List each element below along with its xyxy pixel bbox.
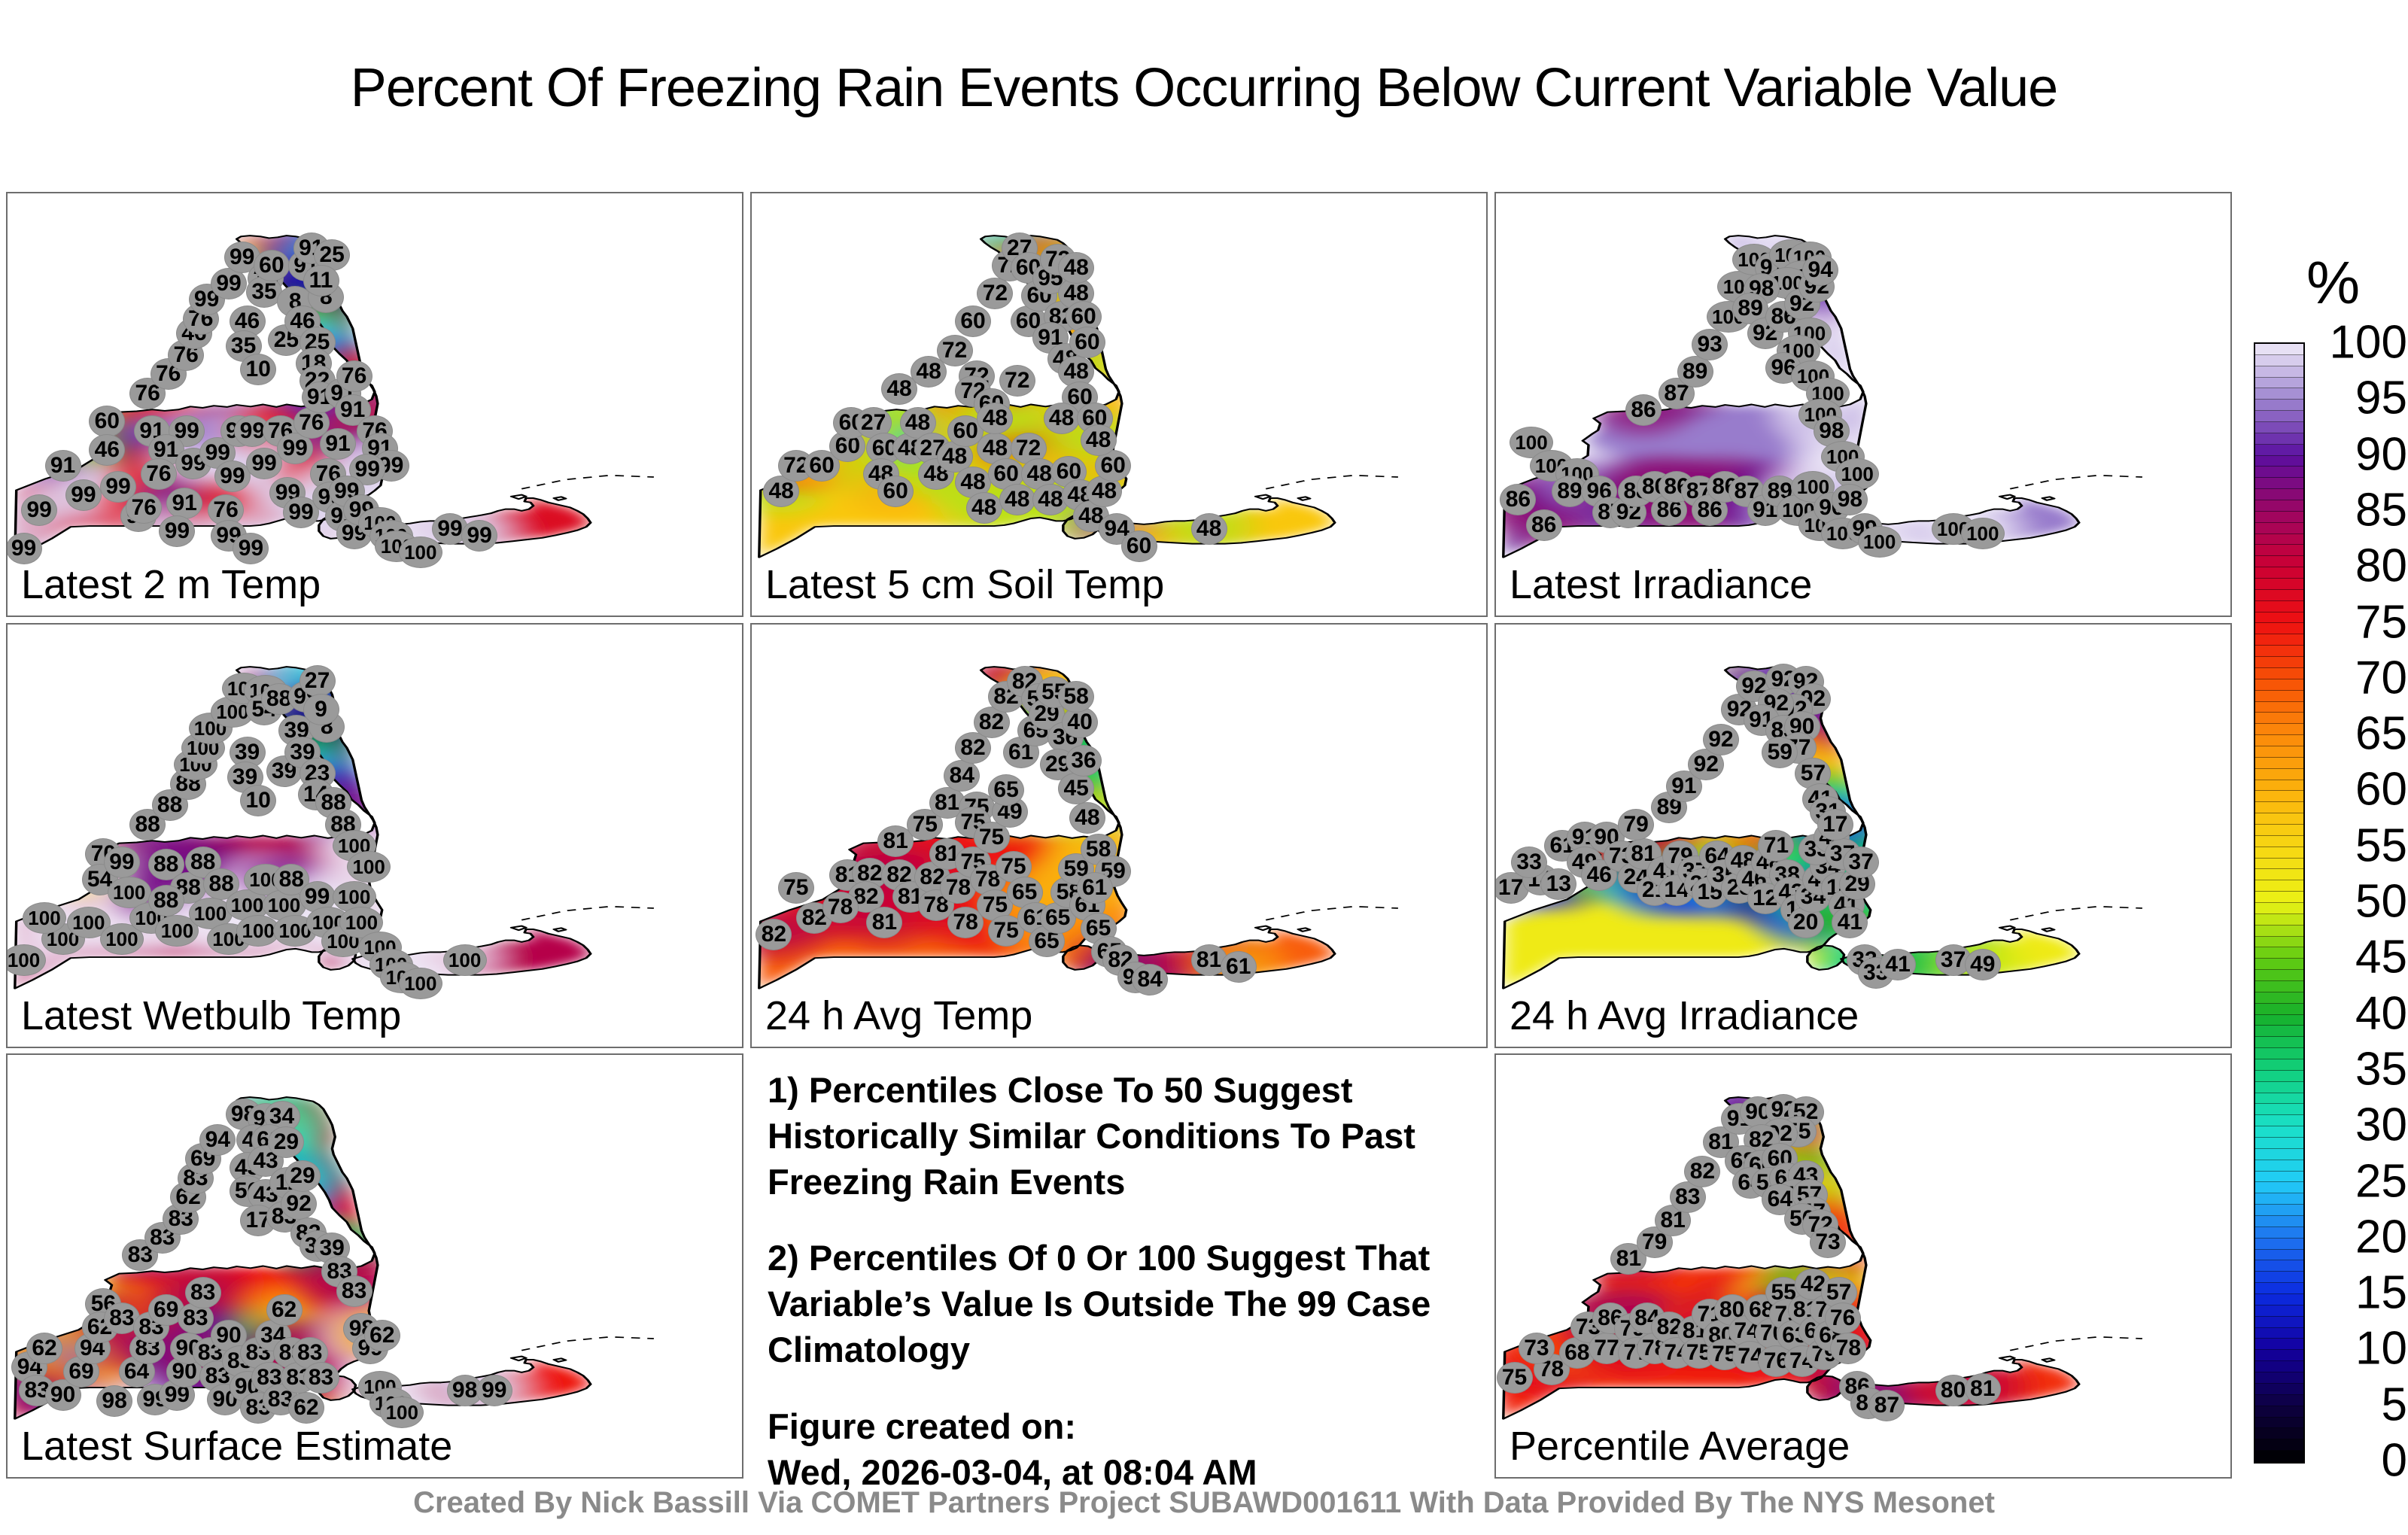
station-value-label: 99 [283, 437, 308, 460]
station-value-label: 48 [886, 378, 911, 400]
colorbar-segment [2255, 1339, 2303, 1350]
figure-created-label: Figure created on: [768, 1406, 1076, 1446]
station-value-label: 48 [769, 480, 794, 503]
colorbar-segment [2255, 724, 2303, 735]
colorbar-tick: 65 [2355, 707, 2407, 761]
station-value-label: 83 [297, 1342, 322, 1364]
station-value-label: 48 [983, 407, 1008, 430]
colorbar-tick: 25 [2355, 1154, 2407, 1208]
station-value-label: 60 [993, 463, 1018, 485]
station-value-label: 89 [1738, 297, 1762, 320]
station-value-label: 60 [1101, 454, 1126, 477]
colorbar-segment [2255, 1384, 2303, 1395]
station-value-label: 37 [1941, 949, 1966, 971]
station-marker[interactable]: 76 [126, 492, 162, 524]
map-panel-percentile-average[interactable]: 7578736873778679778478827481757180758074… [1494, 1053, 2232, 1479]
station-value-label: 48 [1075, 807, 1099, 829]
station-marker[interactable]: 76 [141, 458, 177, 490]
station-value-label: 48 [960, 471, 985, 494]
station-marker[interactable]: 48 [1081, 424, 1117, 456]
station-value-label: 78 [953, 911, 978, 934]
colorbar-segment [2255, 1026, 2303, 1037]
station-marker[interactable]: 75 [778, 872, 814, 904]
station-marker[interactable]: 100 [6, 944, 46, 976]
station-value-label: 100 [345, 913, 378, 932]
colorbar-segment [2255, 892, 2303, 903]
colorbar-tick: 100 [2330, 316, 2407, 369]
station-value-label: 88 [154, 889, 178, 912]
station-marker[interactable]: 81 [1965, 1373, 2001, 1405]
colorbar-segment [2255, 970, 2303, 981]
station-value-label: 48 [942, 445, 967, 468]
colorbar: % 10095908580757065605550454035302520151… [2254, 342, 2408, 1471]
station-value-label: 86 [1506, 488, 1531, 511]
station-value-label: 99 [11, 537, 36, 560]
station-value-label: 78 [1836, 1337, 1861, 1360]
station-value-label: 37 [1848, 851, 1873, 874]
station-marker[interactable]: 86 [1526, 509, 1562, 541]
colorbar-segment [2255, 880, 2303, 892]
station-marker[interactable]: 62 [266, 1294, 303, 1326]
colorbar-segment [2255, 1428, 2303, 1439]
station-marker[interactable]: 100 [399, 968, 442, 999]
station-value-label: 41 [1885, 953, 1910, 976]
colorbar-segment [2255, 937, 2303, 948]
station-marker[interactable]: 93 [1692, 329, 1728, 360]
station-value-label: 62 [293, 1397, 318, 1419]
station-value-label: 68 [1564, 1342, 1589, 1364]
colorbar-segment [2255, 1193, 2303, 1205]
station-value-label: 81 [872, 911, 897, 934]
station-marker[interactable]: 48 [977, 403, 1013, 434]
station-value-label: 100 [404, 543, 436, 562]
station-marker[interactable]: 99 [6, 533, 42, 564]
station-value-label: 78 [828, 896, 853, 919]
colorbar-segment [2255, 1350, 2303, 1361]
colorbar-segment [2255, 825, 2303, 836]
station-marker[interactable]: 29 [268, 1126, 304, 1158]
station-value-label: 45 [1064, 777, 1089, 800]
colorbar-segment [2255, 802, 2303, 813]
station-value-label: 100 [404, 974, 436, 993]
station-value-label: 98 [452, 1379, 477, 1402]
colorbar-tick: 60 [2355, 763, 2407, 816]
map-surface [752, 193, 1486, 616]
station-value-label: 79 [1624, 813, 1649, 836]
station-marker[interactable]: 99 [65, 479, 102, 511]
station-marker[interactable]: 99 [104, 847, 140, 878]
station-value-label: 65 [993, 779, 1018, 801]
map-panel-latest-2m-temp[interactable]: 9199996046999991999176999976919999919976… [6, 192, 743, 617]
station-value-label: 76 [1830, 1307, 1855, 1330]
colorbar-segment [2255, 534, 2303, 546]
station-value-label: 48 [1086, 429, 1111, 451]
station-value-label: 48 [1005, 488, 1029, 511]
colorbar-segment [2255, 1059, 2303, 1071]
station-marker[interactable]: 100 [1961, 518, 2005, 549]
colorbar-tick: 5 [2382, 1378, 2407, 1431]
station-marker[interactable]: 41 [1832, 907, 1868, 938]
colorbar-segment [2255, 780, 2303, 792]
station-value-label: 83 [190, 1281, 215, 1304]
station-marker[interactable]: 100 [443, 944, 487, 976]
colorbar-segment [2255, 1361, 2303, 1372]
station-value-label: 60 [95, 410, 120, 433]
station-marker[interactable]: 92 [281, 1188, 317, 1220]
station-marker[interactable]: 62 [26, 1333, 62, 1364]
station-marker[interactable]: 17 [1817, 809, 1853, 840]
station-marker[interactable]: 79 [1618, 809, 1654, 840]
station-marker[interactable]: 92 [1703, 724, 1739, 755]
station-marker[interactable]: 10 [240, 785, 276, 816]
map-panel-latest-wetbulb-temp[interactable]: 1001001007054991001001001008888881008888… [6, 623, 743, 1048]
station-value-label: 76 [132, 497, 157, 519]
colorbar-segment [2255, 366, 2303, 378]
station-marker[interactable]: 48 [1044, 403, 1080, 434]
station-value-label: 99 [109, 851, 134, 874]
notes-block: 1) Percentiles Close To 50 Suggest Histo… [768, 1067, 1467, 1495]
station-value-label: 61 [1082, 877, 1107, 899]
station-value-label: 99 [26, 499, 51, 521]
colorbar-segment [2255, 512, 2303, 523]
station-marker[interactable]: 48 [1069, 802, 1105, 834]
station-value-label: 75 [783, 877, 808, 899]
station-value-label: 72 [942, 339, 967, 362]
station-value-label: 9 [315, 698, 327, 721]
station-value-label: 48 [1092, 480, 1117, 503]
station-marker[interactable]: 84 [944, 760, 980, 792]
station-value-label: 76 [146, 463, 171, 485]
station-value-label: 91 [50, 454, 75, 477]
colorbar-segment [2255, 1216, 2303, 1227]
station-marker[interactable]: 60 [1121, 530, 1157, 562]
station-value-label: 83 [1675, 1186, 1700, 1208]
station-value-label: 41 [1838, 911, 1862, 934]
colorbar-segment [2255, 445, 2303, 456]
station-marker[interactable]: 37 [1843, 847, 1879, 878]
station-value-label: 82 [979, 711, 1004, 734]
station-value-label: 71 [1764, 834, 1789, 857]
station-value-label: 100 [268, 895, 300, 915]
station-value-label: 86 [1631, 399, 1655, 421]
station-marker[interactable]: 60 [89, 406, 125, 437]
colorbar-segment [2255, 1306, 2303, 1317]
station-value-label: 99 [467, 524, 492, 547]
station-marker[interactable]: 100 [347, 851, 391, 883]
colorbar-segment [2255, 1126, 2303, 1138]
station-marker[interactable]: 36 [1066, 745, 1102, 777]
station-marker[interactable]: 73 [1810, 1226, 1846, 1258]
station-value-label: 100 [1863, 532, 1896, 552]
colorbar-segment [2255, 758, 2303, 769]
station-marker[interactable]: 91 [166, 488, 202, 519]
station-value-label: 75 [979, 826, 1004, 849]
station-marker[interactable]: 99 [476, 1375, 512, 1406]
colorbar-segment [2255, 947, 2303, 959]
station-value-label: 91 [172, 492, 197, 515]
station-marker[interactable]: 83 [336, 1275, 372, 1307]
colorbar-segment [2255, 1328, 2303, 1339]
station-marker[interactable]: 99 [233, 533, 269, 564]
colorbar-segment [2255, 1272, 2303, 1283]
station-value-label: 93 [1698, 333, 1722, 356]
colorbar-tick: 45 [2355, 931, 2407, 984]
station-marker[interactable]: 99 [214, 460, 251, 492]
station-value-label: 10 [246, 358, 271, 381]
station-value-label: 99 [165, 520, 190, 543]
station-value-label: 100 [194, 904, 227, 923]
station-value-label: 100 [8, 950, 40, 970]
colorbar-segment [2255, 1205, 2303, 1216]
station-value-label: 65 [1012, 881, 1037, 904]
station-marker[interactable]: 82 [756, 919, 792, 950]
station-marker[interactable]: 99 [461, 520, 497, 552]
colorbar-tick: 15 [2355, 1266, 2407, 1320]
colorbar-tick: 80 [2355, 540, 2407, 593]
station-value-label: 49 [1970, 953, 1995, 976]
station-marker[interactable]: 72 [999, 365, 1035, 397]
station-value-label: 60 [883, 480, 908, 503]
station-marker[interactable]: 98 [1832, 484, 1868, 515]
station-value-label: 20 [1793, 911, 1818, 934]
station-value-label: 48 [1049, 407, 1074, 430]
station-value-label: 60 [1126, 535, 1151, 558]
station-value-label: 99 [220, 465, 245, 488]
colorbar-segment [2255, 1406, 2303, 1418]
station-marker[interactable]: 78 [1830, 1333, 1866, 1364]
station-marker[interactable]: 48 [1191, 513, 1227, 545]
station-marker[interactable]: 60 [254, 250, 290, 281]
station-marker[interactable]: 83 [303, 1362, 339, 1394]
station-marker[interactable]: 60 [877, 476, 914, 507]
credit-line: Created By Nick Bassill Via COMET Partne… [0, 1486, 2408, 1520]
colorbar-segment [2255, 601, 2303, 612]
station-marker[interactable]: 78 [822, 892, 859, 923]
station-value-label: 100 [1966, 524, 1999, 543]
station-value-label: 48 [1027, 463, 1052, 485]
station-marker[interactable]: 76 [336, 360, 372, 392]
station-value-label: 75 [1502, 1366, 1527, 1389]
station-value-label: 73 [1524, 1337, 1549, 1360]
station-value-label: 60 [259, 254, 284, 277]
station-value-label: 98 [1819, 420, 1844, 442]
station-marker[interactable]: 59 [1762, 737, 1798, 768]
station-value-label: 99 [240, 420, 265, 442]
station-value-label: 81 [883, 830, 908, 853]
station-marker[interactable]: 88 [148, 885, 184, 916]
colorbar-tick: 0 [2382, 1434, 2407, 1488]
station-marker[interactable]: 29 [284, 1160, 321, 1192]
station-marker[interactable]: 61 [1077, 872, 1113, 904]
colorbar-segment [2255, 914, 2303, 926]
station-value-label: 40 [1067, 711, 1092, 734]
station-marker[interactable]: 62 [364, 1320, 400, 1351]
station-marker[interactable]: 10 [240, 354, 276, 385]
station-marker[interactable]: 76 [1825, 1302, 1861, 1334]
colorbar-segment [2255, 992, 2303, 1004]
station-marker[interactable]: 61 [1221, 951, 1257, 983]
station-marker[interactable]: 99 [21, 494, 57, 526]
station-marker[interactable]: 72 [977, 278, 1013, 309]
map-panel-24h-avg-irradiance[interactable]: 1714133361919049467324812141147937231564… [1494, 623, 2232, 1048]
station-marker[interactable]: 98 [96, 1385, 132, 1417]
station-marker[interactable]: 33 [1511, 847, 1547, 878]
colorbar-segment [2255, 926, 2303, 937]
colorbar-segment [2255, 679, 2303, 691]
colorbar-segment [2255, 1395, 2303, 1406]
station-value-label: 86 [1531, 514, 1556, 536]
station-marker[interactable]: 71 [1758, 830, 1794, 862]
station-value-label: 10 [246, 789, 271, 812]
station-value-label: 100 [352, 857, 385, 877]
station-value-label: 65 [1045, 907, 1070, 929]
station-value-label: 89 [1683, 360, 1707, 383]
colorbar-segment [2255, 489, 2303, 500]
station-marker[interactable]: 89 [1677, 356, 1713, 388]
colorbar-segment [2255, 981, 2303, 992]
colorbar-segment [2255, 1071, 2303, 1082]
colorbar-segment [2255, 1239, 2303, 1250]
colorbar-segment [2255, 869, 2303, 880]
station-value-label: 69 [154, 1299, 178, 1321]
station-marker[interactable]: 91 [45, 450, 81, 482]
colorbar-segment [2255, 545, 2303, 556]
colorbar-segment [2255, 433, 2303, 445]
station-marker[interactable]: 75 [1497, 1362, 1533, 1394]
station-value-label: 33 [1516, 851, 1541, 874]
colorbar-tick-labels: 1009590858075706560555045403530252015105… [2309, 342, 2408, 1464]
colorbar-segment [2255, 702, 2303, 713]
station-value-label: 84 [950, 764, 974, 787]
colorbar-segment [2255, 1317, 2303, 1328]
colorbar-segment [2255, 1149, 2303, 1160]
colorbar-tick: 90 [2355, 427, 2407, 481]
station-marker[interactable]: 62 [288, 1392, 324, 1424]
colorbar-tick: 55 [2355, 819, 2407, 872]
station-value-label: 72 [1016, 437, 1041, 460]
colorbar-segment [2255, 1093, 2303, 1105]
station-value-label: 83 [183, 1307, 208, 1330]
station-marker[interactable]: 48 [1058, 252, 1094, 284]
station-value-label: 87 [1874, 1394, 1899, 1417]
station-value-label: 98 [102, 1390, 126, 1412]
colorbar-segment [2255, 590, 2303, 601]
station-marker[interactable]: 49 [1965, 949, 2001, 980]
station-value-label: 75 [1001, 856, 1026, 878]
colorbar-segment [2255, 422, 2303, 433]
station-value-label: 29 [274, 1131, 299, 1154]
colorbar-segment [2255, 859, 2303, 870]
station-value-label: 75 [993, 919, 1018, 942]
colorbar-segment [2255, 1372, 2303, 1384]
station-marker[interactable]: 9 [303, 694, 339, 725]
colorbar-segment [2255, 668, 2303, 679]
station-marker[interactable]: 73 [1519, 1333, 1555, 1364]
colorbar-tick: 95 [2355, 372, 2407, 425]
note-1: 1) Percentiles Close To 50 Suggest Histo… [768, 1067, 1467, 1205]
station-marker[interactable]: 11 [303, 265, 339, 296]
station-marker[interactable]: 100 [1858, 526, 1902, 558]
station-marker[interactable]: 46 [89, 434, 125, 466]
station-value-label: 82 [960, 737, 985, 759]
station-value-label: 83 [109, 1307, 134, 1330]
station-value-label: 94 [205, 1129, 230, 1151]
station-marker[interactable]: 100 [380, 1397, 424, 1428]
colorbar-gradient [2254, 342, 2305, 1464]
station-value-label: 48 [1038, 488, 1063, 511]
colorbar-tick: 30 [2355, 1099, 2407, 1152]
colorbar-segment [2255, 959, 2303, 970]
station-marker[interactable]: 27 [299, 665, 336, 697]
station-value-label: 76 [213, 499, 238, 521]
station-value-label: 81 [1970, 1378, 1995, 1400]
colorbar-tick: 75 [2355, 595, 2407, 649]
map-panel-latest-5cm-soil-temp[interactable]: 4872606060276048604848274848604848486048… [750, 192, 1488, 617]
station-marker[interactable]: 41 [1880, 949, 1916, 980]
station-value-label: 62 [272, 1299, 296, 1321]
colorbar-segment [2255, 746, 2303, 758]
station-marker[interactable]: 58 [1058, 681, 1094, 713]
station-value-label: 90 [216, 1324, 241, 1347]
colorbar-segment [2255, 1004, 2303, 1015]
station-value-label: 89 [1557, 480, 1582, 503]
colorbar-segment [2255, 1015, 2303, 1026]
station-value-label: 17 [1823, 813, 1847, 836]
station-marker[interactable]: 65 [988, 774, 1024, 806]
colorbar-segment [2255, 1294, 2303, 1306]
station-value-label: 76 [342, 365, 366, 388]
station-marker[interactable]: 45 [1058, 773, 1094, 804]
station-marker[interactable]: 87 [1868, 1390, 1905, 1421]
map-panel-latest-irradiance[interactable]: 1001008686100899687928886868687868687918… [1494, 192, 2232, 617]
colorbar-segment [2255, 1182, 2303, 1193]
station-value-label: 91 [325, 433, 350, 455]
colorbar-segment [2255, 612, 2303, 624]
colorbar-segment [2255, 1227, 2303, 1239]
map-panel-latest-surface-estimate[interactable]: 9483906962945662839864838369999990908383… [6, 1053, 743, 1479]
colorbar-segment [2255, 1104, 2303, 1115]
station-marker[interactable]: 100 [23, 902, 66, 934]
station-marker[interactable]: 84 [1132, 964, 1168, 995]
station-marker[interactable]: 94 [1802, 254, 1838, 286]
colorbar-segment [2255, 769, 2303, 780]
colorbar-segment [2255, 691, 2303, 702]
station-marker[interactable]: 82 [1684, 1156, 1720, 1187]
station-value-label: 57 [1826, 1281, 1851, 1304]
station-marker[interactable]: 60 [1069, 327, 1105, 358]
colorbar-tick: 20 [2355, 1210, 2407, 1263]
station-marker[interactable]: 48 [966, 492, 1002, 524]
station-marker[interactable]: 60 [955, 305, 991, 337]
colorbar-segment [2255, 378, 2303, 389]
colorbar-segment [2255, 1160, 2303, 1172]
station-value-label: 17 [1498, 877, 1523, 899]
colorbar-tick: 35 [2355, 1042, 2407, 1096]
station-marker[interactable]: 83 [185, 1277, 221, 1309]
map-panel-24h-avg-temp[interactable]: 8282758182827881828182787878817578757575… [750, 623, 1488, 1048]
station-value-label: 98 [1838, 488, 1862, 511]
colorbar-segment [2255, 1082, 2303, 1093]
colorbar-segment [2255, 713, 2303, 724]
colorbar-segment [2255, 1037, 2303, 1048]
station-value-label: 73 [1815, 1231, 1840, 1254]
colorbar-tick: 40 [2355, 986, 2407, 1040]
station-marker[interactable]: 86 [1625, 394, 1662, 426]
station-value-label: 46 [235, 310, 260, 333]
station-value-label: 60 [953, 420, 978, 442]
station-marker[interactable]: 99 [159, 515, 195, 547]
station-value-label: 94 [1808, 259, 1833, 281]
